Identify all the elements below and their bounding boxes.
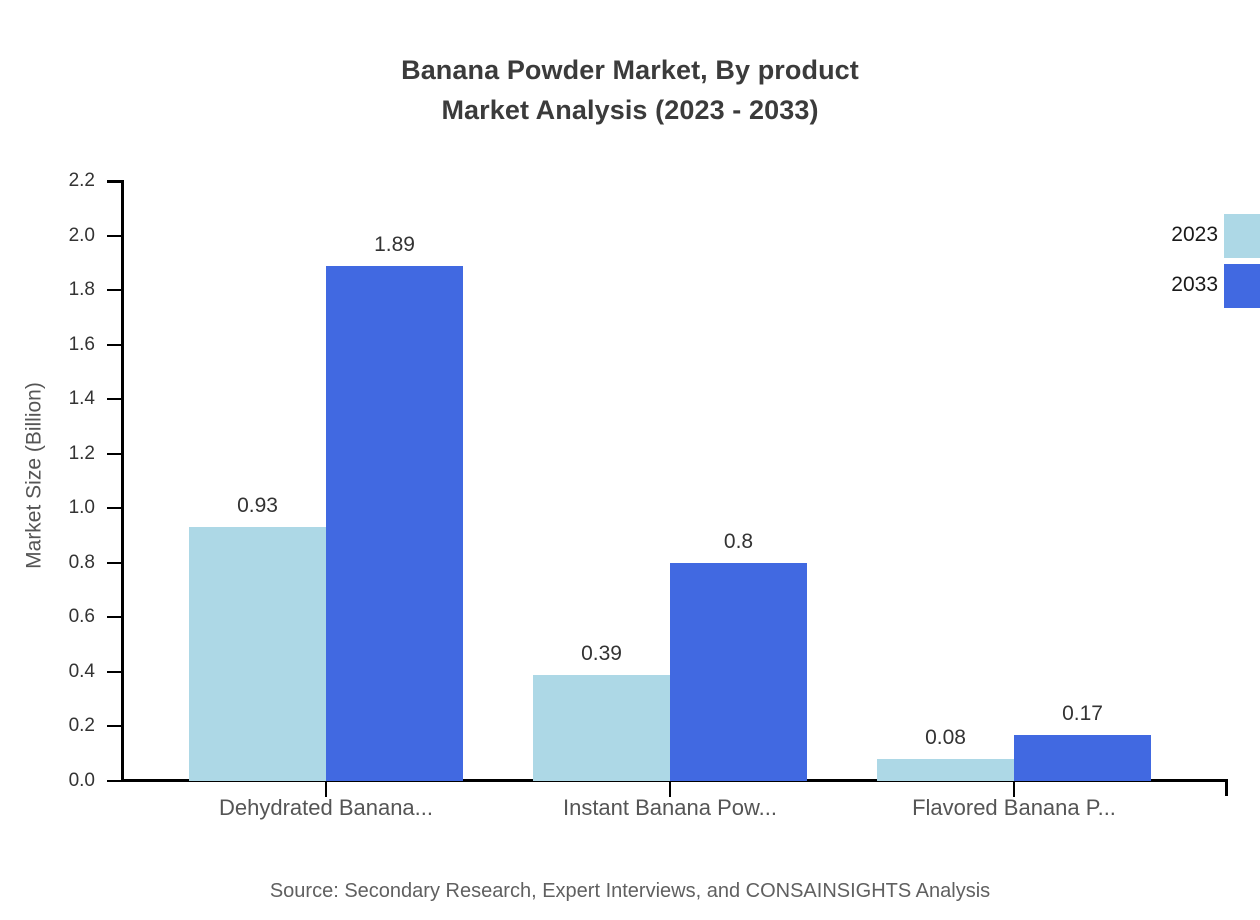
x-axis-category-label: Flavored Banana P... [844,793,1184,823]
bar-2023-1[interactable] [189,527,326,781]
bars-layer: 0.931.890.390.80.080.17 [0,180,1260,781]
legend-swatch-2023 [1224,214,1260,258]
bar-value-label: 1.89 [295,234,495,255]
bar-2023-2[interactable] [533,675,670,781]
bar-chart: Banana Powder Market, By product Market … [0,0,1260,920]
x-axis-category-label: Instant Banana Pow... [500,793,840,823]
legend-label-2033: 2033 [1100,274,1218,296]
x-axis-category-label: Dehydrated Banana... [156,793,496,823]
x-axis-right-cap [1225,779,1228,796]
bar-value-label: 0.17 [983,703,1183,724]
chart-title-line-2: Market Analysis (2023 - 2033) [0,90,1260,130]
bar-2033-3[interactable] [1014,735,1151,781]
chart-title: Banana Powder Market, By product Market … [0,50,1260,130]
bar-2033-2[interactable] [670,563,807,781]
legend: 2023 2033 [1100,214,1260,314]
source-note: Source: Secondary Research, Expert Inter… [0,878,1260,904]
bar-2023-3[interactable] [877,759,1014,781]
legend-swatch-2033 [1224,264,1260,308]
legend-item-2033[interactable]: 2033 [1100,264,1260,308]
legend-label-2023: 2023 [1100,224,1218,246]
bar-2033-1[interactable] [326,266,463,781]
bar-value-label: 0.8 [639,531,839,552]
chart-title-line-1: Banana Powder Market, By product [0,50,1260,90]
legend-item-2023[interactable]: 2023 [1100,214,1260,258]
